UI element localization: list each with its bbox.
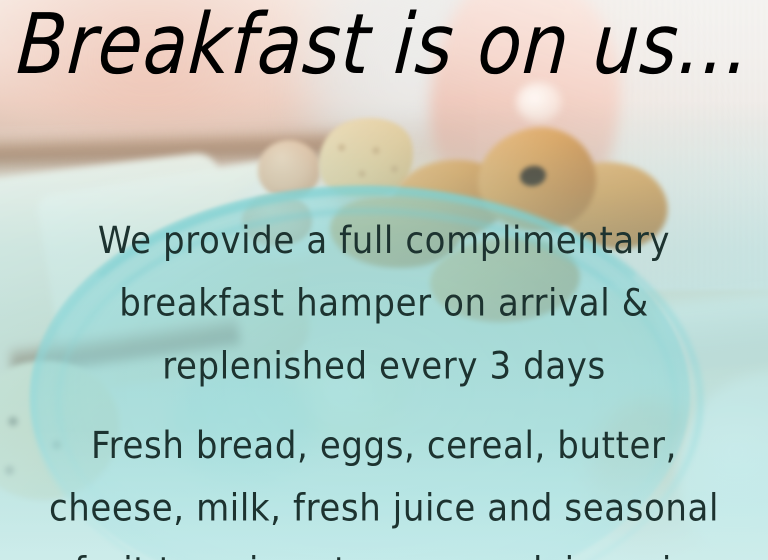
offer-paragraph: We provide a full complimentary breakfas… [0,210,768,398]
contents-line-2: cheese, milk, fresh juice and seasonal [0,478,768,541]
contents-line-3: fruit to enjoy at your own leisure in [0,540,768,560]
offer-line-3: replenished every 3 days [0,335,768,398]
breakfast-promo-card: Breakfast is on us... We provide a full … [0,0,768,560]
contents-line-1: Fresh bread, eggs, cereal, butter, [0,415,768,478]
offer-line-2: breakfast hamper on arrival & [0,273,768,336]
offer-line-1: We provide a full complimentary [0,210,768,273]
contents-paragraph: Fresh bread, eggs, cereal, butter, chees… [0,415,768,560]
headline: Breakfast is on us... [0,0,768,100]
text-layer: Breakfast is on us... We provide a full … [0,0,768,560]
